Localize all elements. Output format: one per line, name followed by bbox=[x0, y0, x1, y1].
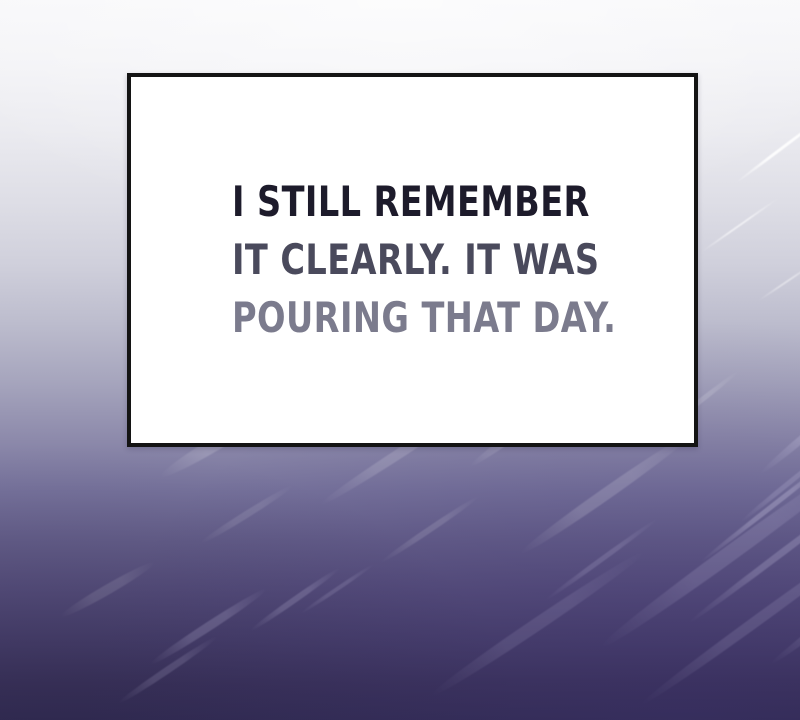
comic-panel-stage: I STILL REMEMBER IT CLEARLY. IT WAS POUR… bbox=[0, 0, 800, 720]
caption-line-2: IT CLEARLY. IT WAS bbox=[232, 231, 582, 289]
caption-text-block: I STILL REMEMBER IT CLEARLY. IT WAS POUR… bbox=[131, 77, 694, 443]
caption-line-3: POURING THAT DAY. bbox=[232, 289, 582, 347]
caption-line-1: I STILL REMEMBER bbox=[232, 173, 582, 231]
caption-box: I STILL REMEMBER IT CLEARLY. IT WAS POUR… bbox=[127, 73, 698, 447]
